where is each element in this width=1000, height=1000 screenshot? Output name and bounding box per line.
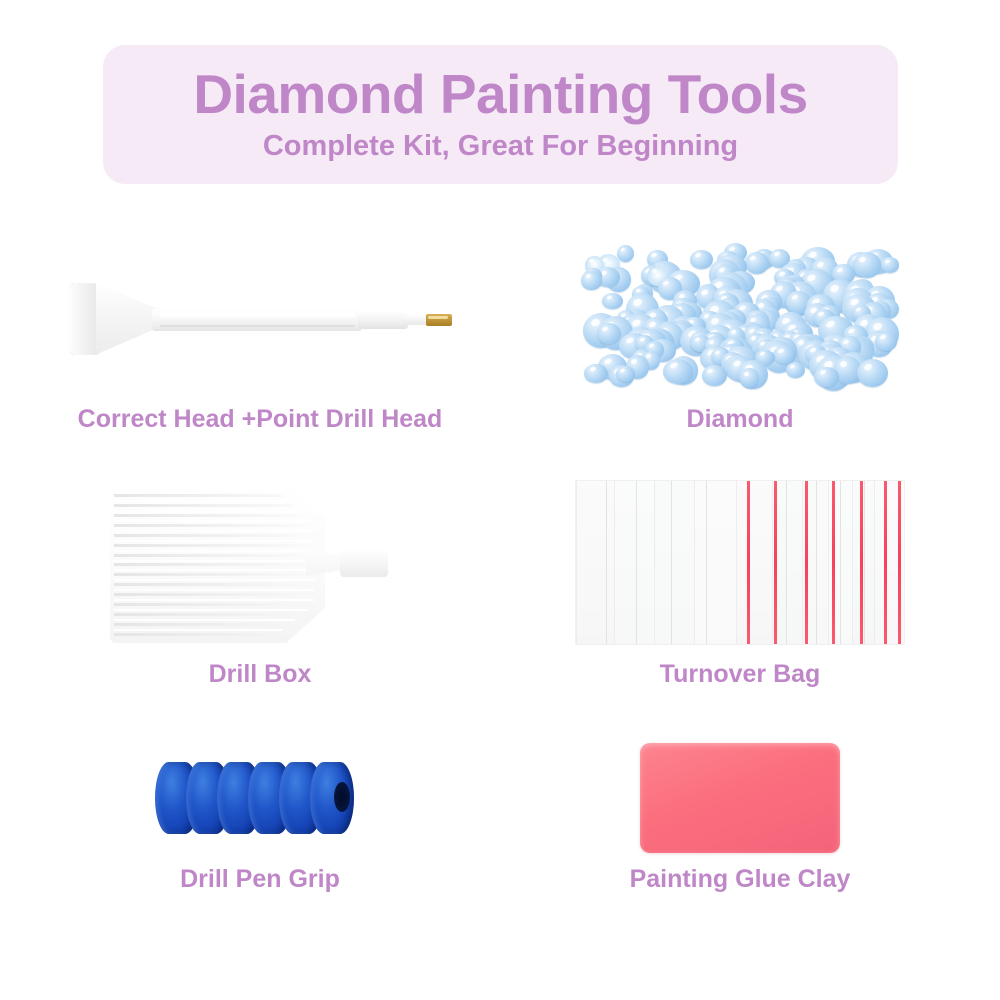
glue-clay-block — [640, 743, 840, 853]
product-infographic-page: Diamond Painting Tools Complete Kit, Gre… — [0, 0, 1000, 1000]
diamond-drill-bead — [740, 368, 759, 387]
drill-box-groove — [114, 573, 314, 576]
diamond-drill-bead — [617, 245, 634, 262]
drill-box-illustration — [110, 475, 410, 650]
product-label-glue-clay: Painting Glue Clay — [630, 865, 851, 894]
turnover-bag-panel — [576, 481, 614, 644]
diamond-drill-bead — [581, 271, 601, 291]
drill-box-groove-highlight — [114, 609, 314, 611]
diamond-drill-bead — [663, 359, 693, 384]
drill-box-groove-highlight — [114, 530, 314, 532]
page-subtitle: Complete Kit, Great For Beginning — [263, 131, 738, 163]
turnover-bag-panel — [654, 481, 694, 644]
drill-box-groove-highlight — [114, 520, 314, 522]
pen-gold-tip — [426, 314, 452, 326]
drill-box-groove-highlight — [114, 599, 314, 601]
turnover-bag-fold — [671, 481, 672, 644]
drill-pen-image — [40, 230, 480, 405]
turnover-bag-illustration — [575, 480, 905, 645]
drill-box-groove — [114, 544, 314, 547]
pen-grip-image — [110, 730, 410, 865]
drill-box-groove-highlight — [114, 579, 314, 581]
diamond-drill-bead — [786, 362, 805, 378]
drill-box-groove-highlight — [114, 550, 314, 552]
drill-box-groove — [114, 593, 314, 596]
diamond-drill-bead — [745, 252, 769, 274]
drill-box-groove — [114, 623, 314, 626]
product-cell-drill-pen: Correct Head +Point Drill Head — [20, 230, 500, 434]
diamond-drills-pile — [580, 243, 900, 393]
pen-flat-head — [70, 283, 100, 355]
pen-flare — [96, 283, 158, 355]
drill-box-groove — [114, 504, 314, 507]
pen-grip-opening — [334, 782, 350, 812]
diamond-drill-bead — [597, 323, 621, 344]
drill-box-grooves — [114, 489, 314, 637]
turnover-bag-fold — [606, 481, 607, 644]
glue-clay-image — [590, 730, 890, 865]
product-cell-glue-clay: Painting Glue Clay — [500, 730, 980, 894]
turnover-bag-fold — [864, 481, 865, 644]
diamond-drills-image — [570, 230, 910, 405]
drill-box-groove-highlight — [114, 569, 314, 571]
header-banner: Diamond Painting Tools Complete Kit, Gre… — [103, 45, 898, 184]
drill-box-groove-highlight — [114, 560, 314, 562]
diamond-drill-bead — [602, 293, 622, 309]
product-label-diamond: Diamond — [687, 405, 794, 434]
product-label-pen-grip: Drill Pen Grip — [180, 865, 340, 894]
turnover-bag-seal-stripe — [805, 481, 808, 644]
turnover-bag-fold — [786, 481, 787, 644]
pen-shaft-highlight — [160, 312, 355, 317]
drill-box-groove-highlight — [114, 540, 314, 542]
drill-box-groove-highlight — [114, 589, 314, 591]
drill-box-groove — [114, 524, 314, 527]
drill-box-image — [95, 465, 425, 660]
turnover-bag-fold — [816, 481, 817, 644]
product-label-drill-pen: Correct Head +Point Drill Head — [78, 405, 443, 434]
turnover-bag-seal-stripe — [774, 481, 777, 644]
turnover-bag-image — [570, 465, 910, 660]
drill-box-groove — [114, 563, 314, 566]
drill-box-groove — [114, 583, 314, 586]
turnover-bag-fold — [840, 481, 841, 644]
diamond-drill-bead — [875, 332, 898, 351]
turnover-bag-panel — [614, 481, 654, 644]
turnover-bag-fold — [636, 481, 637, 644]
drill-box-groove — [114, 534, 314, 537]
pen-shaft-seam — [160, 325, 355, 327]
product-cell-turnover-bag: Turnover Bag — [500, 465, 980, 689]
turnover-bag-panel — [694, 481, 736, 644]
diamond-drill-bead — [584, 364, 608, 383]
diamond-drill-bead — [853, 252, 881, 278]
diamond-drill-bead — [881, 257, 899, 272]
drill-pen-illustration — [60, 263, 460, 373]
drill-box-handle — [340, 549, 388, 577]
product-label-turnover-bag: Turnover Bag — [660, 660, 821, 689]
turnover-bag-seal-stripe — [747, 481, 750, 644]
product-cell-pen-grip: Drill Pen Grip — [20, 730, 500, 894]
drill-box-groove — [114, 613, 314, 616]
turnover-bag-panel — [852, 481, 874, 644]
turnover-bag-seal-stripe — [860, 481, 863, 644]
drill-box-groove — [114, 554, 314, 557]
diamond-drill-bead — [857, 359, 888, 387]
product-grid: Correct Head +Point Drill Head Diamond D… — [0, 200, 1000, 990]
pen-grip-illustration — [145, 748, 375, 848]
product-cell-drill-box: Drill Box — [20, 465, 500, 689]
diamond-drill-bead — [616, 366, 635, 382]
drill-box-groove-highlight — [114, 500, 314, 502]
diamond-drill-bead — [814, 367, 839, 388]
turnover-bag-seal-stripe — [898, 481, 901, 644]
product-cell-diamond: Diamond — [500, 230, 980, 434]
turnover-bag-seal-stripe — [884, 481, 887, 644]
product-label-drill-box: Drill Box — [209, 660, 312, 689]
turnover-bag-seal-stripe — [832, 481, 835, 644]
page-title: Diamond Painting Tools — [193, 66, 807, 124]
diamond-drill-bead — [702, 365, 727, 386]
drill-box-groove-highlight — [114, 510, 314, 512]
drill-box-groove — [114, 514, 314, 517]
turnover-bag-panel — [736, 481, 772, 644]
turnover-bag-fold — [706, 481, 707, 644]
drill-box-groove-highlight — [114, 619, 314, 621]
pen-collar — [358, 311, 408, 329]
drill-box-groove — [114, 603, 314, 606]
